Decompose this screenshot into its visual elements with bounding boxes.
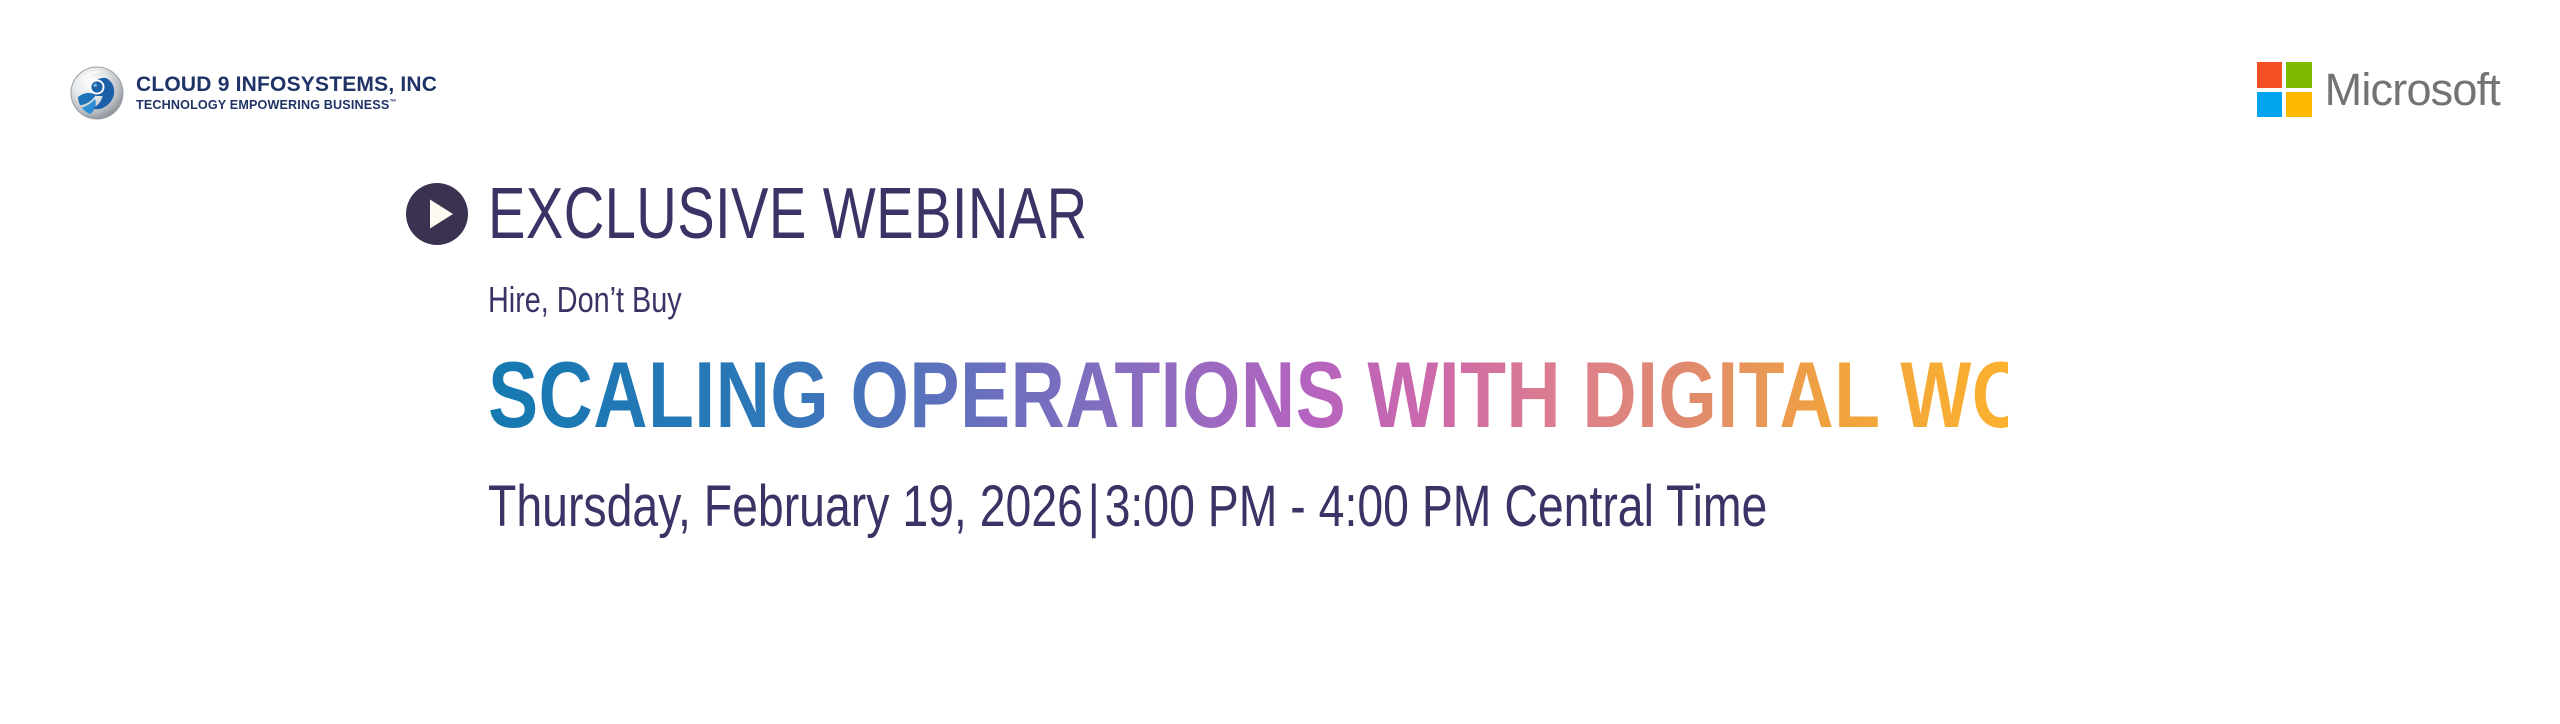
webinar-banner: CLOUD 9 INFOSYSTEMS, INC TECHNOLOGY EMPO… bbox=[0, 0, 2560, 724]
cloud9-globe-icon bbox=[68, 64, 126, 122]
eyebrow-label: Hire, Don’t Buy bbox=[488, 282, 2008, 318]
event-time: 3:00 PM - 4:00 PM Central Time bbox=[1105, 474, 1768, 539]
cloud9-wordmark: CLOUD 9 INFOSYSTEMS, INC TECHNOLOGY EMPO… bbox=[136, 74, 437, 112]
microsoft-blue-square bbox=[2257, 92, 2283, 118]
cloud9-company-name: CLOUD 9 INFOSYSTEMS, INC bbox=[136, 74, 437, 95]
microsoft-yellow-square bbox=[2286, 92, 2312, 118]
cloud9-tagline-text: TECHNOLOGY EMPOWERING BUSINESS bbox=[136, 98, 389, 112]
cloud9-logo: CLOUD 9 INFOSYSTEMS, INC TECHNOLOGY EMPO… bbox=[68, 64, 437, 122]
microsoft-wordmark: Microsoft bbox=[2325, 67, 2500, 112]
kicker-label: EXCLUSIVE WEBINAR bbox=[488, 178, 1088, 250]
event-datetime: Thursday, February 19, 2026|3:00 PM - 4:… bbox=[488, 478, 2008, 536]
microsoft-logo: Microsoft bbox=[2257, 62, 2500, 117]
play-icon bbox=[405, 182, 469, 246]
kicker-row: EXCLUSIVE WEBINAR bbox=[405, 178, 2388, 250]
microsoft-red-square bbox=[2257, 62, 2283, 88]
event-date: Thursday, February 19, 2026 bbox=[488, 474, 1083, 539]
page-title: SCALING OPERATIONS WITH DIGITAL WORKERS bbox=[488, 348, 2008, 442]
microsoft-squares-icon bbox=[2257, 62, 2312, 117]
datetime-separator: | bbox=[1083, 474, 1105, 539]
cloud9-tagline: TECHNOLOGY EMPOWERING BUSINESS™ bbox=[136, 99, 437, 112]
hero-content: EXCLUSIVE WEBINAR Hire, Don’t Buy SCALIN… bbox=[488, 178, 2388, 536]
trademark-symbol: ™ bbox=[389, 99, 396, 106]
microsoft-green-square bbox=[2286, 62, 2312, 88]
